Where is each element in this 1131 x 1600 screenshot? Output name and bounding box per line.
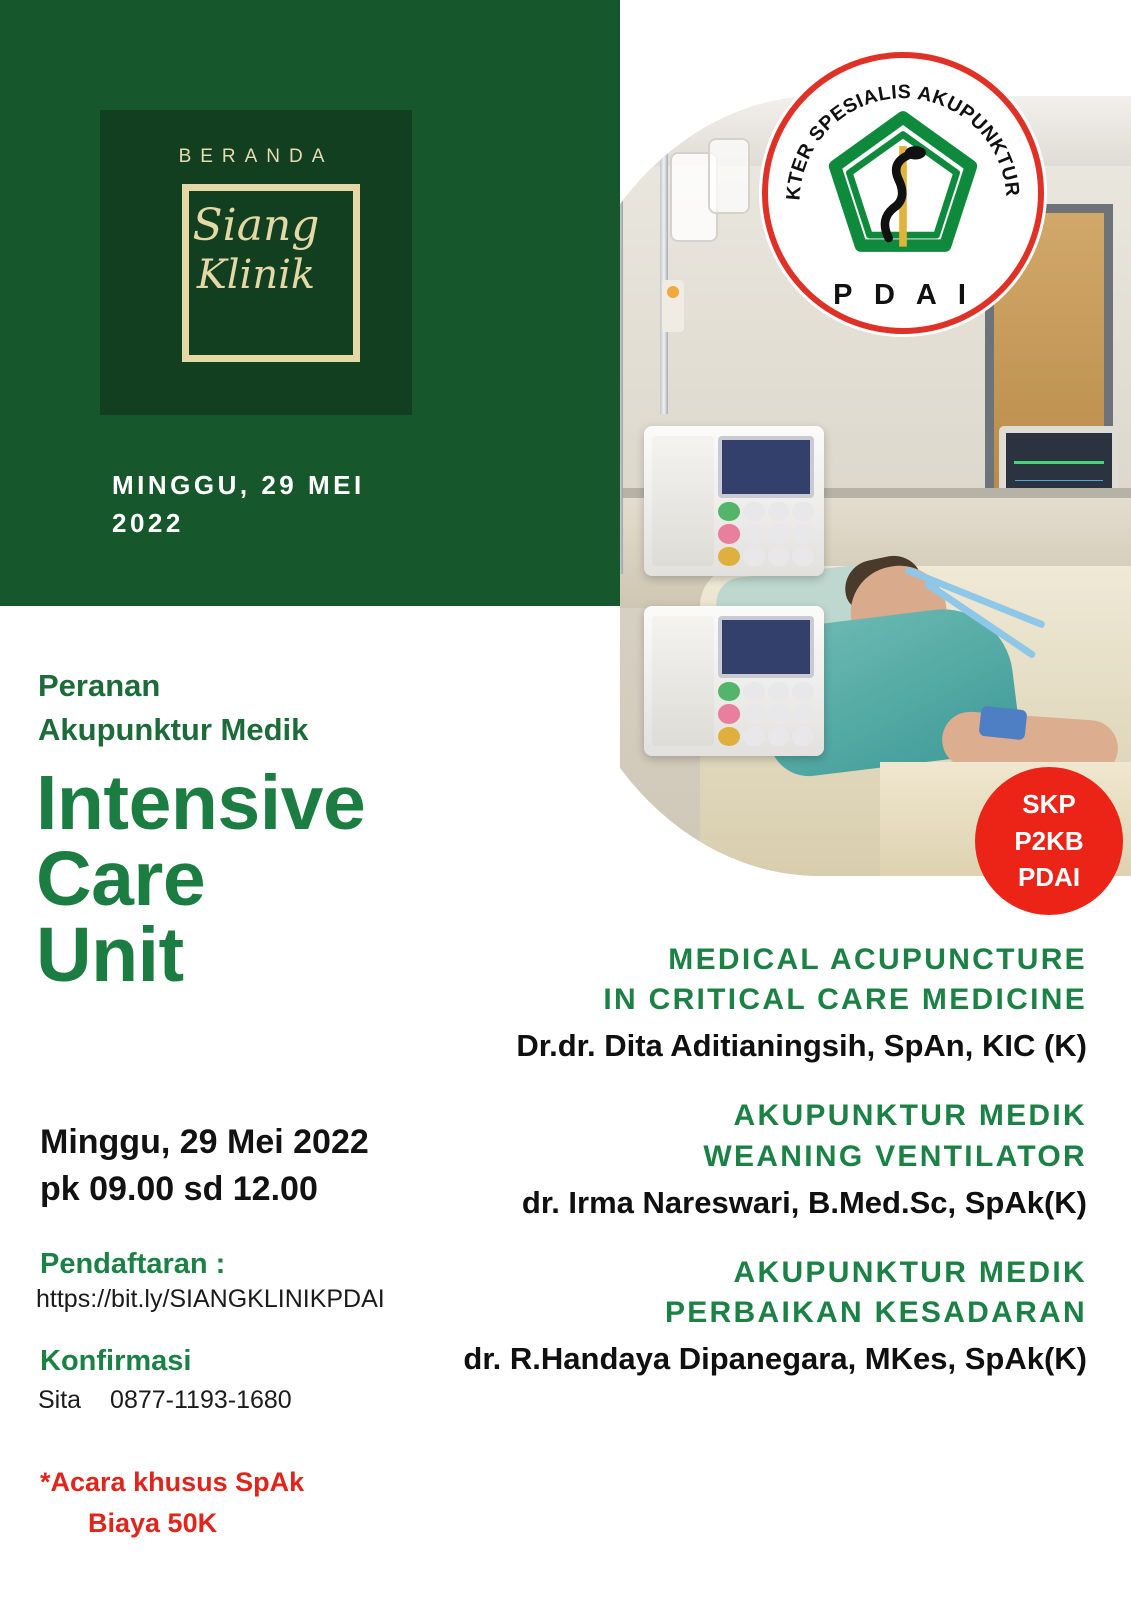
schedule-block: Minggu, 29 Mei 2022 pk 09.00 sd 12.00: [40, 1119, 480, 1213]
topic-speaker: dr. R.Handaya Dipanegara, MKes, SpAk(K): [427, 1341, 1087, 1377]
photo-bp-cuff: [979, 706, 1028, 741]
contact-phone[interactable]: 0877-1193-1680: [110, 1386, 292, 1414]
skp-credit-badge: SKP P2KB PDAI: [975, 767, 1123, 915]
pdai-pentagon-emblem: [835, 117, 971, 246]
title-line-2: Care: [36, 841, 466, 917]
brand-beranda-label: BERANDA: [100, 146, 412, 168]
topic-item: AKUPUNKTUR MEDIK WEANING VENTILATOR dr. …: [427, 1096, 1087, 1220]
notice-line-1: *Acara khusus SpAk: [40, 1467, 304, 1497]
photo-infusion-pump-upper: [644, 426, 824, 576]
brand-script-line-2: Klinik: [100, 254, 412, 297]
topic-title-line-1: AKUPUNKTUR MEDIK: [427, 1253, 1087, 1293]
pdai-seal: PERHIMPUNAN DOKTER SPESIALIS AKUPUNKTUR …: [762, 52, 1044, 334]
topics-list: MEDICAL ACUPUNCTURE IN CRITICAL CARE MED…: [427, 940, 1087, 1409]
event-poster: BERANDA Siang Klinik MINGGU, 29 MEI 2022…: [0, 0, 1131, 1600]
kicker-line-2: Akupunktur Medik: [38, 708, 468, 752]
skp-line-1: SKP: [1022, 786, 1075, 823]
schedule-date: Minggu, 29 Mei 2022: [40, 1119, 480, 1166]
topic-title-line-1: AKUPUNKTUR MEDIK: [427, 1096, 1087, 1136]
contact-name: Sita: [38, 1386, 81, 1414]
notice-block: *Acara khusus SpAk Biaya 50K: [40, 1462, 440, 1543]
photo-infusion-pump-lower: [644, 606, 824, 756]
topic-title-line-2: WEANING VENTILATOR: [427, 1137, 1087, 1177]
brand-script-wordmark: Siang Klinik: [100, 202, 412, 297]
topic-item: MEDICAL ACUPUNCTURE IN CRITICAL CARE MED…: [427, 940, 1087, 1064]
topic-item: AKUPUNKTUR MEDIK PERBAIKAN KESADARAN dr.…: [427, 1253, 1087, 1377]
pdai-acronym: P D A I: [768, 279, 1038, 312]
schedule-time: pk 09.00 sd 12.00: [40, 1166, 480, 1213]
photo-iv-pole-secondary: [660, 114, 668, 414]
topic-title: MEDICAL ACUPUNCTURE IN CRITICAL CARE MED…: [427, 940, 1087, 1020]
topic-title: AKUPUNKTUR MEDIK PERBAIKAN KESADARAN: [427, 1253, 1087, 1333]
confirmation-contact: Sita 0877-1193-1680: [38, 1386, 292, 1415]
registration-label: Pendaftaran :: [40, 1248, 225, 1281]
photo-iv-bag-secondary: [708, 138, 750, 214]
registration-link[interactable]: https://bit.ly/SIANGKLINIKPDAI: [36, 1285, 385, 1314]
title-line-1: Intensive: [36, 765, 466, 841]
photo-iv-pole: [620, 104, 623, 574]
headline-kicker: Peranan Akupunktur Medik: [38, 664, 468, 752]
photo-drip-chamber: [662, 280, 684, 332]
brand-logo-card: BERANDA Siang Klinik: [100, 110, 412, 415]
confirmation-label: Konfirmasi: [40, 1345, 191, 1378]
brand-script-line-1: Siang: [100, 202, 412, 250]
skp-line-2: P2KB: [1014, 823, 1083, 860]
topic-title-line-2: PERBAIKAN KESADARAN: [427, 1293, 1087, 1333]
notice-line-2: Biaya 50K: [40, 1503, 440, 1544]
panel-date-banner: MINGGU, 29 MEI 2022: [112, 466, 442, 543]
topic-title: AKUPUNKTUR MEDIK WEANING VENTILATOR: [427, 1096, 1087, 1176]
skp-line-3: PDAI: [1018, 859, 1080, 896]
topic-title-line-1: MEDICAL ACUPUNCTURE: [427, 940, 1087, 980]
title-line-3: Unit: [36, 917, 466, 993]
kicker-line-1: Peranan: [38, 664, 468, 708]
topic-speaker: dr. Irma Nareswari, B.Med.Sc, SpAk(K): [427, 1185, 1087, 1221]
topic-title-line-2: IN CRITICAL CARE MEDICINE: [427, 980, 1087, 1020]
topic-speaker: Dr.dr. Dita Aditianingsih, SpAn, KIC (K): [427, 1028, 1087, 1064]
page-title: Intensive Care Unit: [36, 765, 466, 994]
